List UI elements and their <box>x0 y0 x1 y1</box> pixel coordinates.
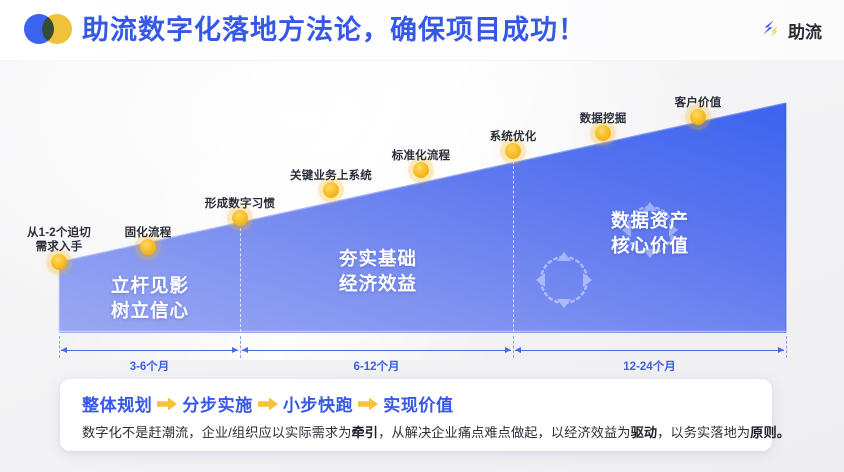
milestone-label: 数据挖掘 <box>580 112 627 126</box>
milestone-label: 客户价值 <box>675 96 722 110</box>
milestone-node[interactable] <box>690 109 706 125</box>
milestone-node[interactable] <box>413 162 429 178</box>
step-label: 实现价值 <box>383 391 453 416</box>
description-text: ，以务实落地为 <box>657 425 750 440</box>
description-text: ，从解决企业痛点难点做起，以经济效益为 <box>378 425 630 440</box>
cycle-arrows-icon <box>534 250 594 310</box>
stage-title-line1: 夯实基础 <box>339 246 417 271</box>
arrow-right-icon <box>258 397 278 411</box>
slide-header: 助流数字化落地方法论，确保项目成功！ 助流 <box>0 0 844 61</box>
brand-mark: 助流 <box>760 17 822 43</box>
milestone-node[interactable] <box>323 182 339 198</box>
axis-range-arrow <box>515 350 784 351</box>
page-title: 助流数字化落地方法论，确保项目成功！ <box>82 9 586 51</box>
timeline-axis: 3-6个月6-12个月12-24个月 <box>0 336 844 380</box>
description-highlight: 驱动 <box>631 425 658 440</box>
lightning-bolt-icon <box>760 18 784 42</box>
description-text: 数字化不是赶潮流，企业/组织应以实际需求为 <box>82 425 352 440</box>
stage-divider-1 <box>240 218 241 332</box>
summary-description: 数字化不是赶潮流，企业/组织应以实际需求为牵引，从解决企业痛点难点做起，以经济效… <box>82 422 790 441</box>
stage-title-line1: 立杆见影 <box>111 273 189 298</box>
step-label: 小步快跑 <box>283 391 353 416</box>
logo-circle-gold <box>42 14 72 44</box>
stage-title: 数据资产核心价值 <box>611 208 689 258</box>
axis-tick <box>786 336 787 358</box>
description-highlight: 牵引 <box>352 425 379 440</box>
milestone-node[interactable] <box>51 254 67 270</box>
stage-title-line2: 核心价值 <box>611 233 689 258</box>
stage-title-line2: 树立信心 <box>111 298 189 323</box>
milestone-node[interactable] <box>595 125 611 141</box>
stage-title: 夯实基础经济效益 <box>339 246 417 296</box>
axis-duration-label: 12-24个月 <box>623 358 675 374</box>
axis-tick <box>240 336 241 358</box>
axis-duration-label: 6-12个月 <box>353 358 399 374</box>
steps-row: 整体规划分步实施小步快跑实现价值 <box>82 391 454 416</box>
axis-range-arrow <box>242 350 511 351</box>
milestone-label: 标准化流程 <box>392 149 451 163</box>
milestone-node[interactable] <box>505 143 521 159</box>
brand-text: 助流 <box>788 18 822 43</box>
axis-tick <box>513 336 514 358</box>
arrow-right-icon <box>157 397 177 411</box>
milestone-label: 形成数字习惯 <box>205 197 275 211</box>
axis-range-arrow <box>61 350 238 351</box>
stage-divider-2 <box>513 151 514 332</box>
slide-canvas: 助流数字化落地方法论，确保项目成功！ 助流 <box>0 0 844 472</box>
stage-title-line2: 经济效益 <box>339 271 417 296</box>
step-label: 分步实施 <box>182 391 252 416</box>
description-highlight: 原则。 <box>750 425 790 440</box>
milestone-node[interactable] <box>140 239 156 255</box>
arrow-right-icon <box>358 397 378 411</box>
methodology-ramp-chart: 从1-2个迫切需求入手固化流程形成数字习惯关键业务上系统标准化流程系统优化数据挖… <box>0 60 844 360</box>
axis-duration-label: 3-6个月 <box>130 358 170 374</box>
milestone-label: 关键业务上系统 <box>290 169 372 183</box>
milestone-label: 系统优化 <box>490 130 537 144</box>
axis-tick <box>59 336 60 358</box>
milestone-label: 固化流程 <box>125 226 172 240</box>
two-circles-logo-icon <box>24 14 72 44</box>
stage-title: 立杆见影树立信心 <box>111 273 189 323</box>
stage-title-line1: 数据资产 <box>611 208 689 233</box>
milestone-node[interactable] <box>232 210 248 226</box>
milestone-label: 从1-2个迫切需求入手 <box>22 226 96 254</box>
step-label: 整体规划 <box>82 391 152 416</box>
summary-card: 整体规划分步实施小步快跑实现价值 数字化不是赶潮流，企业/组织应以实际需求为牵引… <box>60 379 772 451</box>
